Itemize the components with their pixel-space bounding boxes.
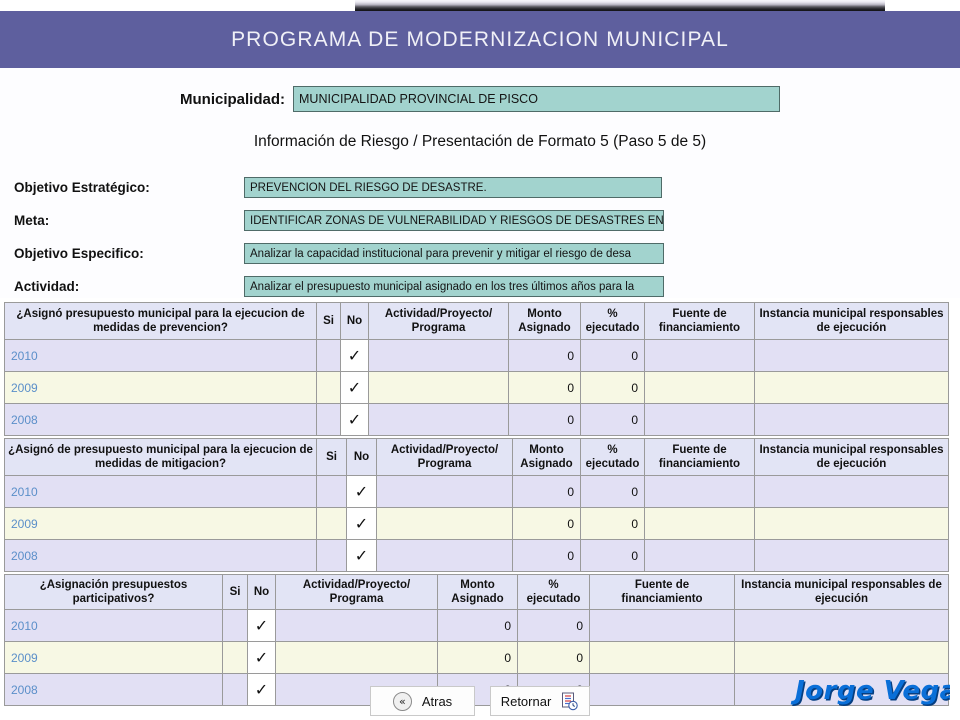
th-si: Si [317, 303, 341, 340]
th-monto: Monto Asignado [509, 303, 581, 340]
right-edge-mask [950, 660, 960, 720]
atras-button-label: Atras [422, 694, 452, 709]
th-fuente: Fuente de financiamiento [590, 575, 735, 610]
checkmark-icon: ✓ [355, 542, 368, 569]
table-header-row: ¿Asignó presupuesto municipal para la ej… [5, 303, 949, 340]
application-page: PROGRAMA DE MODERNIZACION MUNICIPAL Muni… [0, 0, 960, 720]
cell-actividad[interactable] [276, 610, 438, 642]
objetivo-especifico-label: Objetivo Especifico: [14, 246, 144, 261]
cell-fuente[interactable] [645, 372, 755, 404]
cell-pct[interactable]: 0 [518, 610, 590, 642]
cell-instancia[interactable] [735, 642, 949, 674]
cell-instancia[interactable] [755, 404, 949, 436]
th-instancia: Instancia municipal responsables de ejec… [735, 575, 949, 610]
cell-si[interactable] [317, 404, 341, 436]
cell-fuente[interactable] [645, 404, 755, 436]
objetivo-estrategico-label: Objetivo Estratégico: [14, 180, 150, 195]
cell-si[interactable] [317, 476, 347, 508]
checkmark-icon: ✓ [255, 612, 268, 639]
cell-instancia[interactable] [755, 540, 949, 572]
cell-year: 2010 [5, 610, 223, 642]
cell-pct[interactable]: 0 [581, 540, 645, 572]
table-header-row: ¿Asignación presupuestos participativos?… [5, 575, 949, 610]
th-no: No [248, 575, 276, 610]
th-actividad: Actividad/Proyecto/ Programa [276, 575, 438, 610]
meta-field[interactable]: IDENTIFICAR ZONAS DE VULNERABILIDAD Y RI… [244, 210, 664, 231]
th-monto: Monto Asignado [513, 439, 581, 476]
th-fuente: Fuente de financiamiento [645, 303, 755, 340]
cell-no[interactable]: ✓ [341, 404, 369, 436]
table-row[interactable]: 2008 ✓ 0 0 [5, 540, 949, 572]
municipalidad-row: Municipalidad: MUNICIPALIDAD PROVINCIAL … [0, 86, 960, 112]
cell-monto[interactable]: 0 [513, 476, 581, 508]
cell-fuente[interactable] [645, 540, 755, 572]
cell-no[interactable]: ✓ [347, 508, 377, 540]
table-row[interactable]: 2009 ✓ 0 0 [5, 508, 949, 540]
meta-label: Meta: [14, 213, 49, 228]
cell-pct[interactable]: 0 [581, 372, 645, 404]
th-no: No [341, 303, 369, 340]
objective-fields-group: Objetivo Estratégico: PREVENCION DEL RIE… [0, 171, 960, 303]
cell-si[interactable] [317, 540, 347, 572]
th-no: No [347, 439, 377, 476]
checkmark-icon: ✓ [348, 342, 361, 369]
cell-no[interactable]: ✓ [248, 642, 276, 674]
form-header-area: Municipalidad: MUNICIPALIDAD PROVINCIAL … [0, 68, 960, 298]
meta-row: Meta: IDENTIFICAR ZONAS DE VULNERABILIDA… [0, 204, 960, 237]
cell-fuente[interactable] [645, 508, 755, 540]
actividad-row: Actividad: Analizar el presupuesto munic… [0, 270, 960, 303]
th-pct: % ejecutado [581, 303, 645, 340]
table-row[interactable]: 2010 ✓ 0 0 [5, 610, 949, 642]
table-row[interactable]: 2009 ✓ 0 0 [5, 372, 949, 404]
background-window-sliver-right [885, 0, 960, 11]
cell-monto[interactable]: 0 [513, 540, 581, 572]
table-row[interactable]: 2008 ✓ 0 0 [5, 404, 949, 436]
cell-instancia[interactable] [735, 610, 949, 642]
th-si: Si [223, 575, 248, 610]
cell-actividad[interactable] [377, 476, 513, 508]
cell-no[interactable]: ✓ [248, 610, 276, 642]
cell-pct[interactable]: 0 [518, 642, 590, 674]
th-fuente: Fuente de financiamiento [645, 439, 755, 476]
cell-year: 2009 [5, 372, 317, 404]
cell-si[interactable] [223, 642, 248, 674]
table-row[interactable]: 2009 ✓ 0 0 [5, 642, 949, 674]
cell-instancia[interactable] [755, 508, 949, 540]
cell-actividad[interactable] [377, 540, 513, 572]
th-instancia: Instancia municipal responsables de ejec… [755, 303, 949, 340]
cell-si[interactable] [317, 508, 347, 540]
checkmark-icon: ✓ [348, 406, 361, 433]
table-row[interactable]: 2010 ✓ 0 0 [5, 476, 949, 508]
cell-year: 2010 [5, 340, 317, 372]
cell-no[interactable]: ✓ [341, 340, 369, 372]
cell-monto[interactable]: 0 [509, 372, 581, 404]
th-question: ¿Asignó de presupuesto municipal para la… [5, 439, 317, 476]
th-actividad: Actividad/Proyecto/ Programa [377, 439, 513, 476]
checkmark-icon: ✓ [355, 510, 368, 537]
cell-fuente[interactable] [590, 642, 735, 674]
cell-actividad[interactable] [369, 404, 509, 436]
objetivo-especifico-row: Objetivo Especifico: Analizar la capacid… [0, 237, 960, 270]
th-pct: % ejecutado [581, 439, 645, 476]
cell-no[interactable]: ✓ [341, 372, 369, 404]
cell-pct[interactable]: 0 [581, 476, 645, 508]
cell-pct[interactable]: 0 [581, 340, 645, 372]
table-header-row: ¿Asignó de presupuesto municipal para la… [5, 439, 949, 476]
cell-no[interactable]: ✓ [347, 540, 377, 572]
cell-si[interactable] [223, 610, 248, 642]
cell-year: 2009 [5, 508, 317, 540]
double-chevron-left-icon: « [393, 692, 412, 711]
th-si: Si [317, 439, 347, 476]
actividad-label: Actividad: [14, 279, 79, 294]
cell-instancia[interactable] [755, 372, 949, 404]
table-prevencion: ¿Asignó presupuesto municipal para la ej… [4, 302, 949, 436]
risk-tables-container: ¿Asignó presupuesto municipal para la ej… [4, 302, 948, 708]
cell-year: 2008 [5, 540, 317, 572]
document-clock-icon [561, 692, 579, 711]
cell-fuente[interactable] [645, 476, 755, 508]
background-window-sliver [355, 0, 885, 11]
section-subtitle: Información de Riesgo / Presentación de … [0, 133, 960, 151]
table-mitigacion: ¿Asignó de presupuesto municipal para la… [4, 438, 949, 572]
objetivo-estrategico-field[interactable]: PREVENCION DEL RIESGO DE DESASTRE. [244, 177, 662, 198]
th-monto: Monto Asignado [438, 575, 518, 610]
municipalidad-field[interactable]: MUNICIPALIDAD PROVINCIAL DE PISCO [293, 86, 780, 112]
page-title: PROGRAMA DE MODERNIZACION MUNICIPAL [231, 28, 729, 52]
cell-year: 2009 [5, 642, 223, 674]
municipalidad-label: Municipalidad: [180, 91, 285, 108]
objetivo-estrategico-row: Objetivo Estratégico: PREVENCION DEL RIE… [0, 171, 960, 204]
th-question: ¿Asignación presupuestos participativos? [5, 575, 223, 610]
cell-monto[interactable]: 0 [509, 404, 581, 436]
cell-actividad[interactable] [276, 642, 438, 674]
objetivo-especifico-field[interactable]: Analizar la capacidad institucional para… [244, 243, 664, 264]
app-title-banner: PROGRAMA DE MODERNIZACION MUNICIPAL [0, 11, 960, 68]
cell-year: 2010 [5, 476, 317, 508]
checkmark-icon: ✓ [348, 374, 361, 401]
cell-si[interactable] [317, 340, 341, 372]
cell-fuente[interactable] [590, 610, 735, 642]
cell-year: 2008 [5, 404, 317, 436]
cell-si[interactable] [317, 372, 341, 404]
retornar-button[interactable]: Retornar [490, 686, 590, 716]
cell-monto[interactable]: 0 [438, 642, 518, 674]
cell-actividad[interactable] [377, 508, 513, 540]
cell-monto[interactable]: 0 [509, 340, 581, 372]
checkmark-icon: ✓ [355, 478, 368, 505]
cell-monto[interactable]: 0 [438, 610, 518, 642]
cell-actividad[interactable] [369, 372, 509, 404]
cell-pct[interactable]: 0 [581, 508, 645, 540]
th-pct: % ejecutado [518, 575, 590, 610]
th-question: ¿Asignó presupuesto municipal para la ej… [5, 303, 317, 340]
cell-actividad[interactable] [369, 340, 509, 372]
atras-button[interactable]: « Atras [370, 686, 475, 716]
cell-fuente[interactable] [645, 340, 755, 372]
cell-pct[interactable]: 0 [581, 404, 645, 436]
actividad-field[interactable]: Analizar el presupuesto municipal asigna… [244, 276, 664, 297]
watermark-jorge-vega: Jorge Vega [795, 676, 958, 706]
th-instancia: Instancia municipal responsables de ejec… [755, 439, 949, 476]
th-actividad: Actividad/Proyecto/ Programa [369, 303, 509, 340]
cell-instancia[interactable] [755, 476, 949, 508]
cell-instancia[interactable] [755, 340, 949, 372]
cell-no[interactable]: ✓ [347, 476, 377, 508]
retornar-button-label: Retornar [501, 694, 552, 709]
table-row[interactable]: 2010 ✓ 0 0 [5, 340, 949, 372]
checkmark-icon: ✓ [255, 644, 268, 671]
cell-monto[interactable]: 0 [513, 508, 581, 540]
